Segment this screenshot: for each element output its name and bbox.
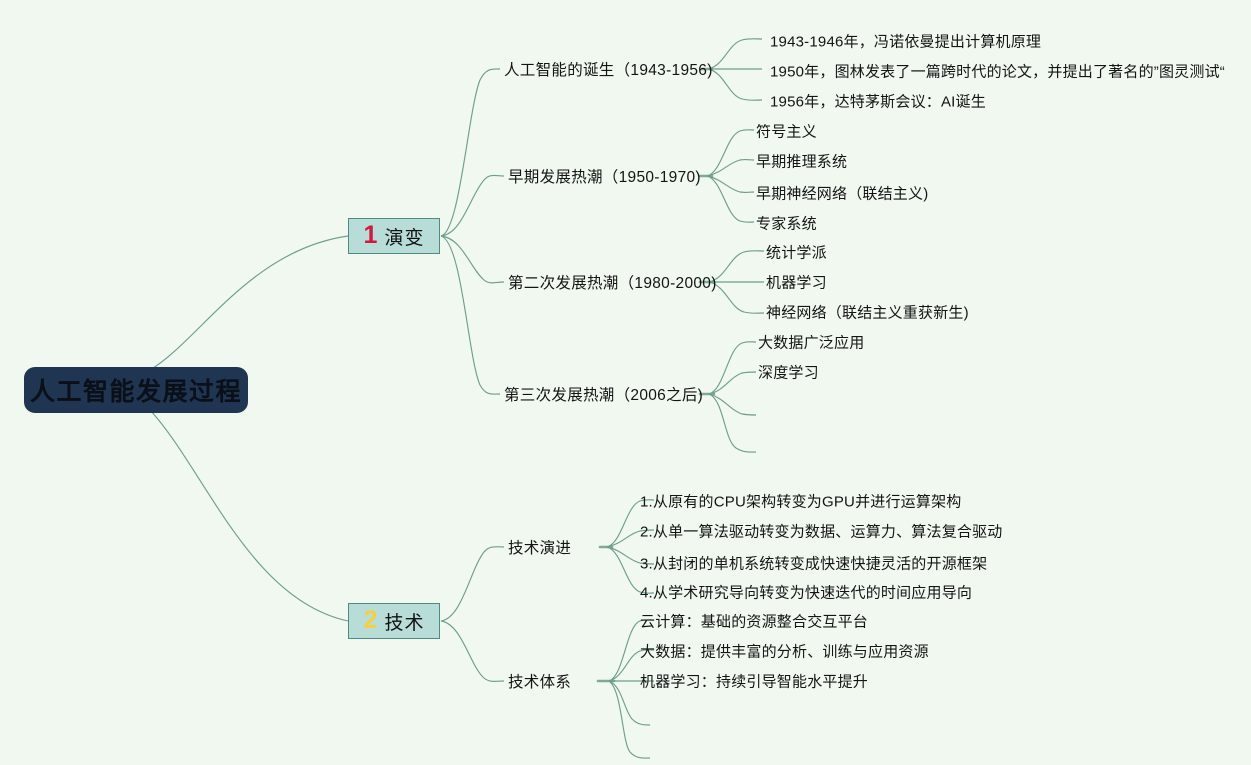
leaf-early-reasoning-system[interactable]: 早期推理系统 <box>756 151 847 172</box>
group-label-tech-evolution[interactable]: 技术演进 <box>508 536 571 558</box>
leaf-statistical-school[interactable]: 统计学派 <box>766 242 827 263</box>
edge-branch1-to-group-1 <box>441 69 500 236</box>
leaf-machine-learning-guidance[interactable]: 机器学习：持续引导智能水平提升 <box>640 671 868 692</box>
group-label-early-boom[interactable]: 早期发展热潮（1950-1970) <box>508 165 701 187</box>
leaf-cloud-computing[interactable]: 云计算：基础的资源整合交互平台 <box>640 611 868 632</box>
leaf-bigdata-wide-application[interactable]: 大数据广泛应用 <box>758 332 864 353</box>
edge-g22-leaf-5 <box>609 681 650 758</box>
edge-g14-leaf-1 <box>709 342 756 394</box>
edge-branch2-to-group-1 <box>441 547 504 621</box>
group-label-second-boom[interactable]: 第二次发展热潮（1980-2000) <box>508 271 717 293</box>
edge-root-to-branch-2 <box>150 410 348 621</box>
edge-g12-leaf-3 <box>707 176 754 192</box>
edge-branch1-to-group-4 <box>441 236 500 394</box>
leaf-vonneumann-principle[interactable]: 1943-1946年，冯诺依曼提出计算机原理 <box>770 31 1041 52</box>
group-label-third-boom[interactable]: 第三次发展热潮（2006之后) <box>504 383 703 405</box>
edge-root-to-branch-1 <box>150 236 348 370</box>
branch-2-number: 2 <box>364 608 378 633</box>
root-label: 人工智能发展过程 <box>30 372 242 408</box>
edge-g13-leaf-3 <box>709 282 764 313</box>
branch-1-label: 演变 <box>384 223 424 250</box>
edge-g14-leaf-2 <box>709 372 756 394</box>
branch-node-1[interactable]: 1 演变 <box>348 218 440 254</box>
leaf-closed-to-opensource[interactable]: 3.从封闭的单机系统转变成快速快捷灵活的开源框架 <box>640 553 987 574</box>
leaf-turing-paper-test[interactable]: 1950年，图林发表了一篇跨时代的论文，并提出了著名的”图灵测试“ <box>770 61 1225 82</box>
leaf-research-to-application[interactable]: 4.从学术研究导向转变为快速迭代的时间应用导向 <box>640 582 972 603</box>
group-label-birth-of-ai[interactable]: 人工智能的诞生（1943-1956) <box>504 58 713 80</box>
edge-g11-leaf-1 <box>708 39 762 69</box>
leaf-symbolism[interactable]: 符号主义 <box>756 121 817 142</box>
leaf-expert-system[interactable]: 专家系统 <box>756 213 817 234</box>
leaf-dartmouth-conference[interactable]: 1956年，达特茅斯会议：AI诞生 <box>770 91 986 112</box>
edge-g12-leaf-4 <box>707 176 754 222</box>
edge-branch1-to-group-2 <box>441 175 504 236</box>
leaf-neural-network-revival[interactable]: 神经网络（联结主义重获新生) <box>766 302 969 323</box>
leaf-machine-learning[interactable]: 机器学习 <box>766 272 827 293</box>
edge-g13-leaf-1 <box>709 251 764 282</box>
group-label-tech-system[interactable]: 技术体系 <box>508 670 571 692</box>
edge-branch1-to-group-3 <box>441 236 504 283</box>
edge-g14-leaf-4 <box>709 394 756 452</box>
edge-g12-leaf-2 <box>707 160 754 176</box>
edge-branch2-to-group-2 <box>441 621 504 681</box>
leaf-early-neural-network[interactable]: 早期神经网络（联结主义) <box>756 183 928 204</box>
leaf-deep-learning[interactable]: 深度学习 <box>758 362 819 383</box>
edge-g12-leaf-1 <box>707 130 754 176</box>
branch-2-label: 技术 <box>384 608 424 635</box>
root-node[interactable]: 人工智能发展过程 <box>24 367 248 413</box>
branch-1-number: 1 <box>364 223 378 248</box>
edge-g14-leaf-3 <box>709 394 756 415</box>
leaf-big-data[interactable]: 大数据：提供丰富的分析、训练与应用资源 <box>640 641 929 662</box>
edge-g11-leaf-3 <box>708 69 762 100</box>
branch-node-2[interactable]: 2 技术 <box>348 603 440 639</box>
leaf-cpu-to-gpu[interactable]: 1.从原有的CPU架构转变为GPU并进行运算架构 <box>640 491 962 512</box>
leaf-algorithm-to-composite-drive[interactable]: 2.从单一算法驱动转变为数据、运算力、算法复合驱动 <box>640 521 1003 542</box>
mindmap-canvas: 人工智能发展过程 1 演变 人工智能的诞生（1943-1956) 1943-19… <box>0 0 1251 765</box>
